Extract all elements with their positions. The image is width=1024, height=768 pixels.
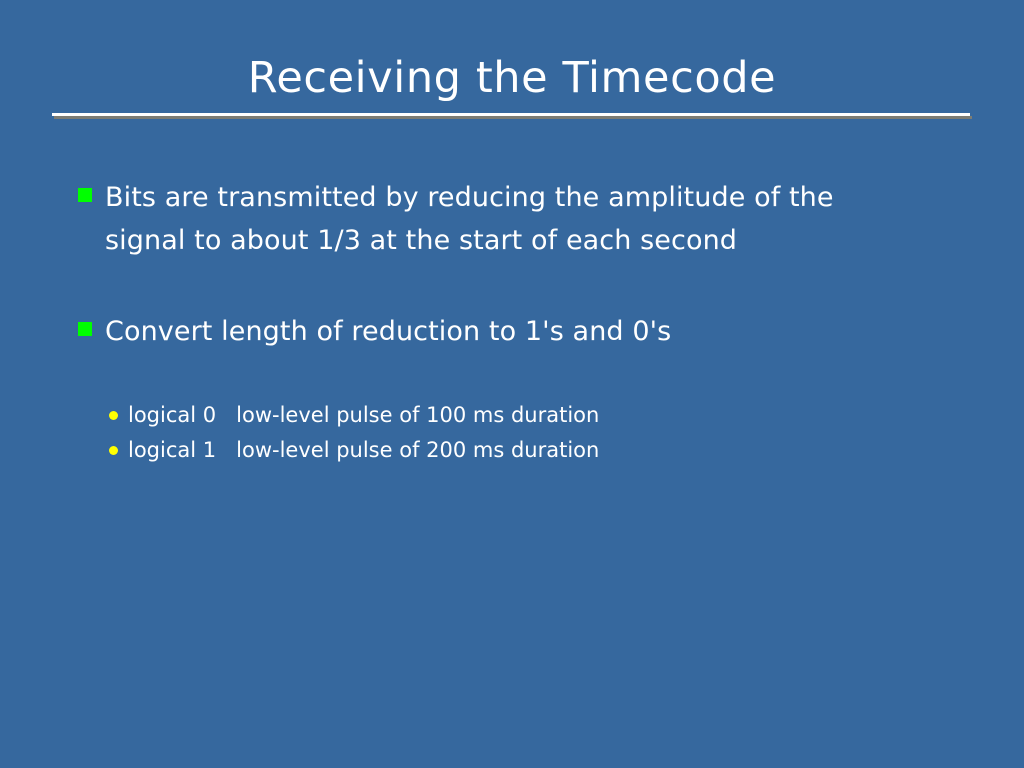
- sub-list-item-label: logical 0 low-level pulse of 100 ms dura…: [128, 400, 929, 430]
- list-item: Bits are transmitted by reducing the amp…: [78, 176, 958, 262]
- sub-list-item: logical 0 low-level pulse of 100 ms dura…: [109, 400, 929, 435]
- dot-bullet-icon: [109, 446, 118, 455]
- list-item-label: Bits are transmitted by reducing the amp…: [105, 176, 905, 262]
- list-item-label: Convert length of reduction to 1's and 0…: [105, 310, 905, 353]
- slide-body: Bits are transmitted by reducing the amp…: [0, 0, 1024, 768]
- sub-list-item: logical 1 low-level pulse of 200 ms dura…: [109, 435, 929, 470]
- list-item: Convert length of reduction to 1's and 0…: [78, 310, 958, 353]
- sub-list-item-label: logical 1 low-level pulse of 200 ms dura…: [128, 435, 929, 465]
- square-bullet-icon: [78, 188, 92, 202]
- square-bullet-icon: [78, 322, 92, 336]
- presentation-slide: Receiving the Timecode Bits are transmit…: [0, 0, 1024, 768]
- dot-bullet-icon: [109, 411, 118, 420]
